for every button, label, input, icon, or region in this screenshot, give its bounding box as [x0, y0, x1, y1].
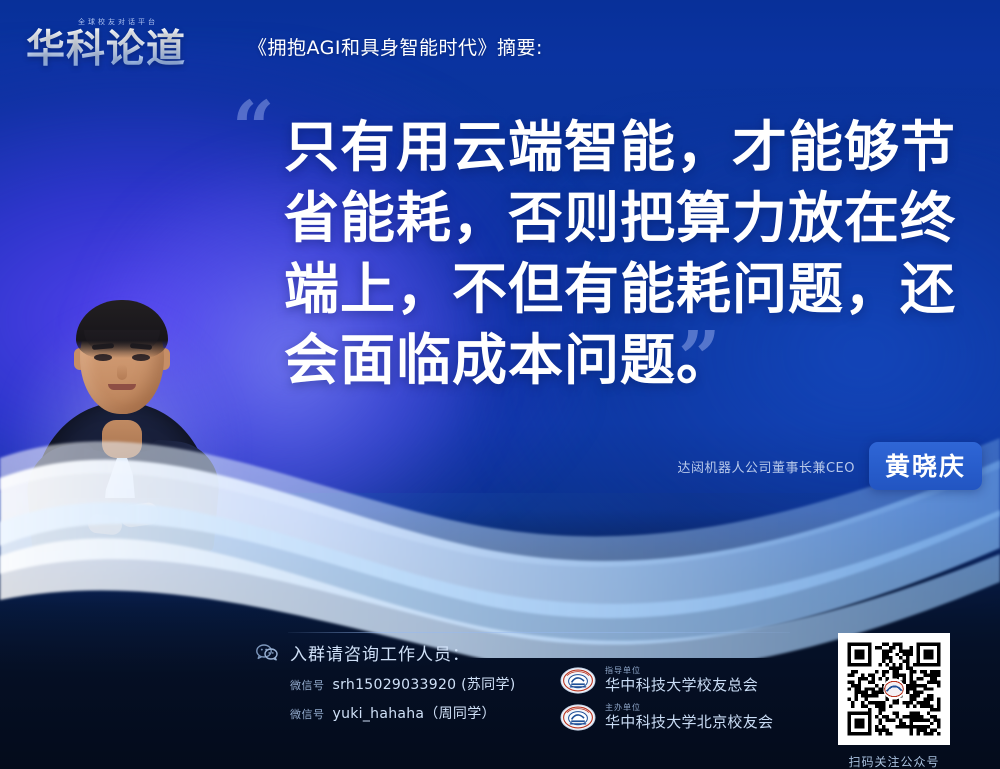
poster-canvas: 全球校友对话平台 华科论道 《拥抱AGI和具身智能时代》摘要: “ 只有用云端智… [0, 0, 1000, 769]
contact-label: 微信号 [290, 677, 325, 693]
contact-value[interactable]: yuki_hahaha（周同学） [333, 703, 496, 723]
contact-row: 微信号 srh15029033920 (苏同学) [290, 674, 586, 694]
contact-label: 微信号 [290, 706, 325, 722]
quote-open-mark: “ [232, 104, 275, 154]
qr-code-image [838, 633, 950, 745]
quote-close-mark: ” [678, 334, 721, 384]
organizer-kind: 主办单位 [605, 703, 773, 713]
quote-line: 会面临成本问题。 [284, 325, 944, 396]
qr-caption: 扫码关注公众号 [848, 753, 939, 769]
university-emblem-icon [560, 667, 596, 694]
wechat-icon [256, 644, 278, 661]
organizer-row: 主办单位 华中科技大学北京校友会 [560, 703, 773, 732]
organizer-texts: 指导单位 华中科技大学校友总会 [605, 666, 758, 695]
quote-line: 端上，不但有能耗问题，还 [284, 254, 944, 325]
brand-logo[interactable]: 全球校友对话平台 华科论道 [26, 15, 222, 77]
footer-divider [288, 632, 790, 633]
organizer-row: 指导单位 华中科技大学校友总会 [560, 666, 773, 695]
header: 全球校友对话平台 华科论道 《拥抱AGI和具身智能时代》摘要: [0, 0, 1000, 92]
qr-code-block[interactable]: 扫码关注公众号 [838, 633, 950, 769]
organizer-name: 华中科技大学校友总会 [605, 676, 758, 695]
speaker-name-badge: 黄晓庆 [869, 442, 982, 490]
speaker-attribution: 达闼机器人公司董事长兼CEO 黄晓庆 [677, 442, 982, 490]
university-emblem-icon [560, 704, 596, 731]
speaker-role: 达闼机器人公司董事长兼CEO [677, 457, 855, 476]
organizer-texts: 主办单位 华中科技大学北京校友会 [605, 703, 773, 732]
page-title: 《拥抱AGI和具身智能时代》摘要: [248, 33, 543, 60]
footer-contact-block: 入群请咨询工作人员： 微信号 srh15029033920 (苏同学) 微信号 … [256, 640, 586, 723]
organizer-kind: 指导单位 [605, 666, 758, 676]
portrait-hair [76, 300, 168, 358]
organizer-name: 华中科技大学北京校友会 [605, 713, 773, 732]
organizer-block: 指导单位 华中科技大学校友总会 主办单位 华中科技大学北京校友会 [560, 666, 773, 740]
quote-body: 只有用云端智能，才能够节 省能耗，否则把算力放在终 端上，不但有能耗问题，还 会… [284, 112, 944, 396]
contact-value[interactable]: srh15029033920 (苏同学) [333, 674, 516, 694]
quote-line: 只有用云端智能，才能够节 [284, 112, 944, 183]
wave-ribbons [0, 398, 1000, 658]
footer-heading: 入群请咨询工作人员： [290, 640, 470, 665]
footer-heading-row: 入群请咨询工作人员： [256, 640, 586, 665]
brand-wordmark: 华科论道 [26, 25, 186, 75]
quote-line: 省能耗，否则把算力放在终 [284, 183, 944, 254]
portrait-mouth [108, 384, 136, 390]
portrait-nose [117, 364, 127, 380]
contact-row: 微信号 yuki_hahaha（周同学） [290, 703, 586, 723]
